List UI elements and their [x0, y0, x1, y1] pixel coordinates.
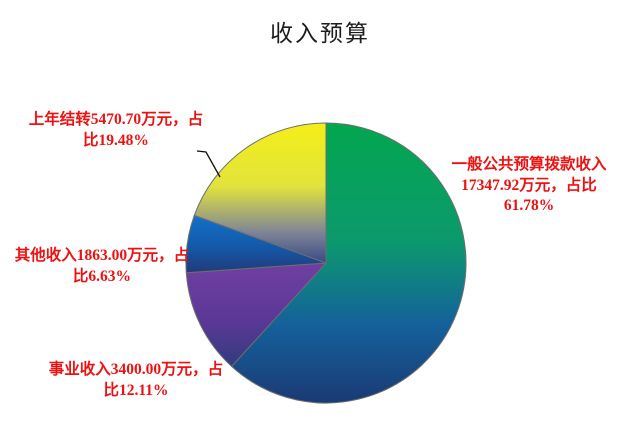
slice-label-carryover: 上年结转5470.70万元，占比19.48%: [28, 110, 204, 151]
slice-label-general: 一般公共预算拨款收入17347.92万元，占比61.78%: [446, 155, 612, 217]
leader-line-carryover: [197, 151, 220, 177]
chart-canvas: 收入预算: [0, 0, 640, 431]
slice-label-other: 其他收入1863.00万元，占比6.63%: [14, 246, 190, 287]
slice-label-career: 事业收入3400.00万元，占比12.11%: [48, 360, 224, 401]
